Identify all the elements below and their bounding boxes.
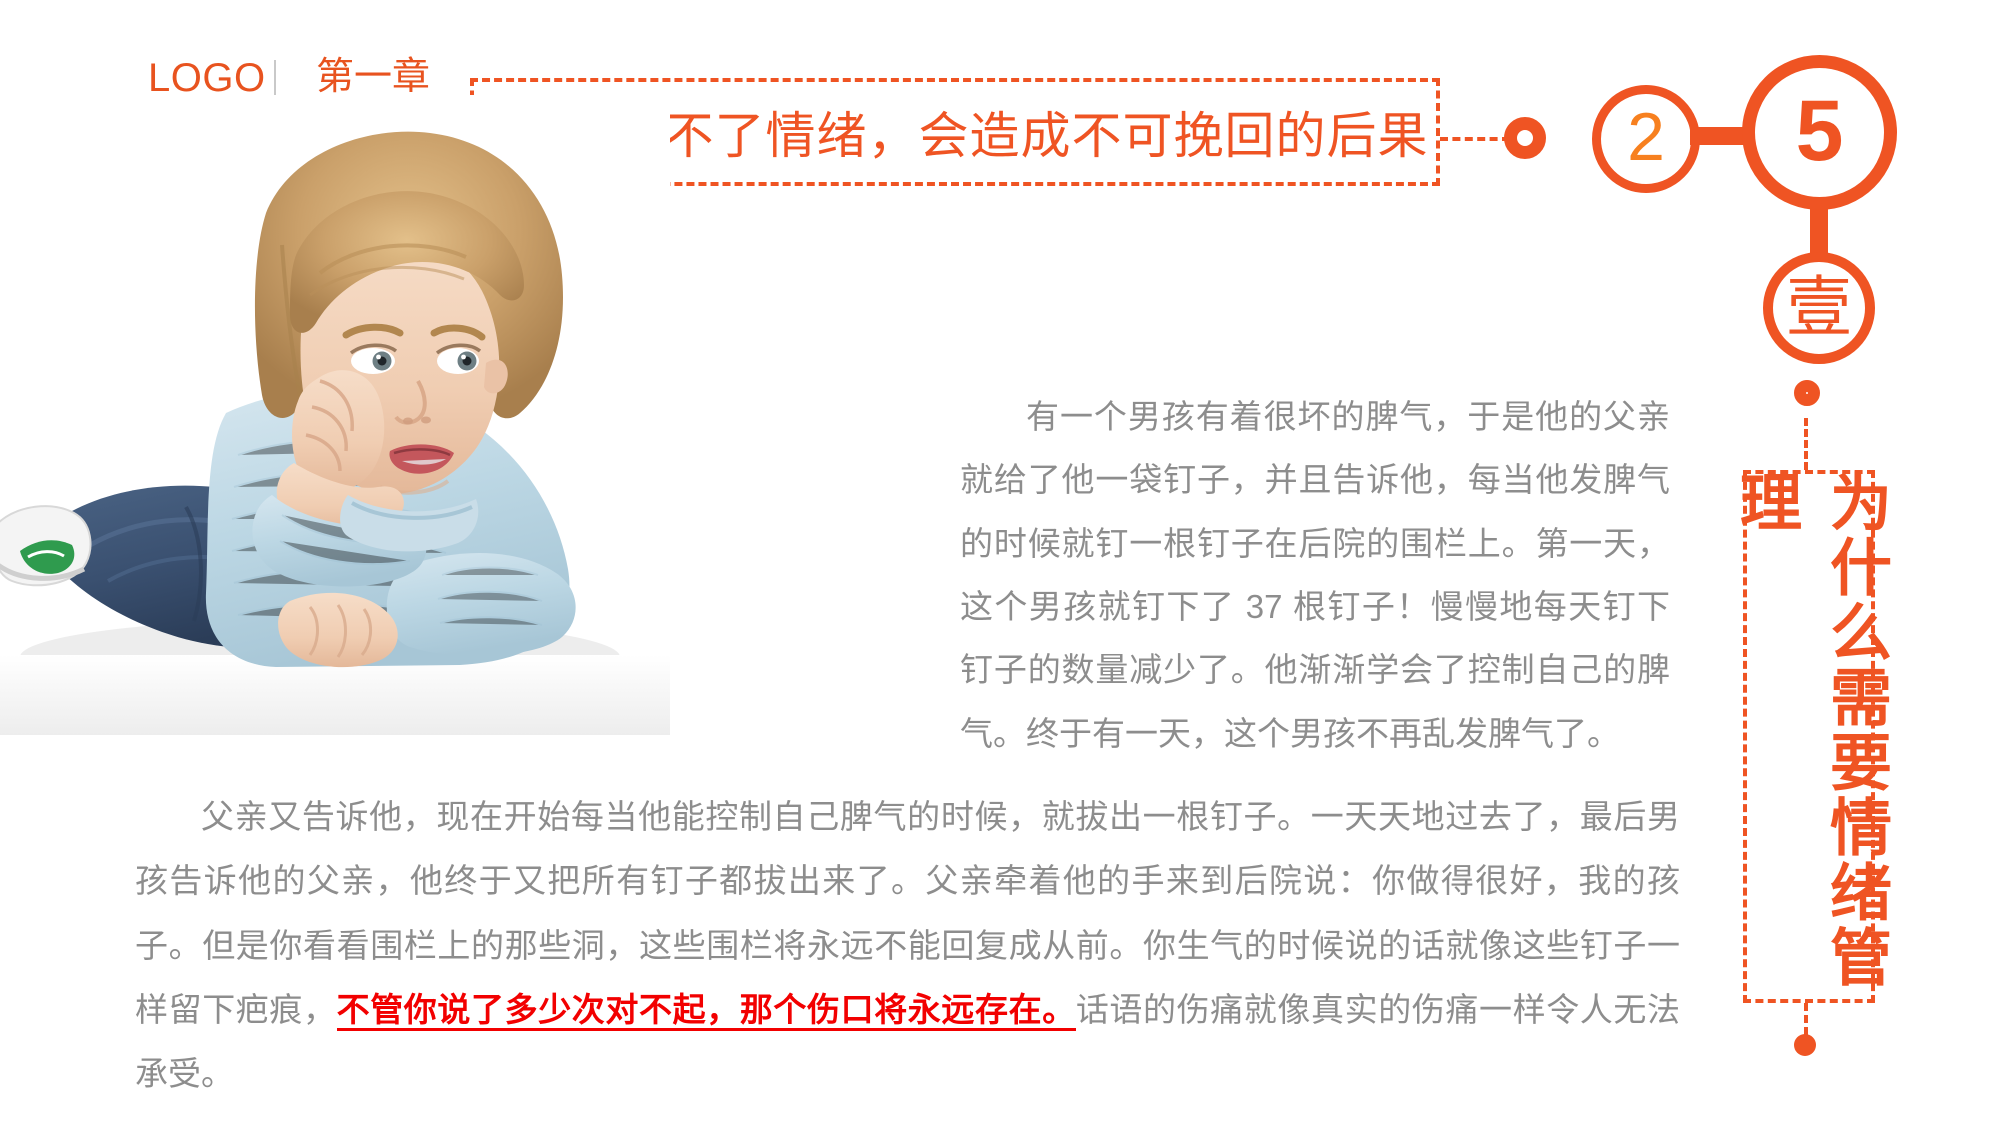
page-title: 控制不了情绪，会造成不可挽回的后果 bbox=[560, 96, 1430, 168]
slide-root: LOGO 第一章 控制不了情绪，会造成不可挽回的后果 2 5 壹 为什么需要情绪… bbox=[0, 0, 2000, 1125]
story-paragraph-2: 父亲又告诉他，现在开始每当他能控制自己脾气的时候，就拔出一根钉子。一天天地过去了… bbox=[135, 785, 1680, 1107]
badge-number-primary: 5 bbox=[1742, 55, 1897, 210]
sidebar-bottom-stem bbox=[1804, 1003, 1808, 1035]
sidebar-top-stem bbox=[1804, 418, 1808, 470]
title-connector-dashes bbox=[1440, 137, 1510, 141]
sidebar-vertical-label: 为什么需要情绪管理 bbox=[1743, 470, 1875, 1003]
sidebar-top-ring-dot-icon bbox=[1794, 380, 1820, 406]
story-paragraph-1: 有一个男孩有着很坏的脾气，于是他的父亲就给了他一袋钉子，并且告诉他，每当他发脾气… bbox=[960, 385, 1670, 765]
badge-number-secondary: 2 bbox=[1592, 85, 1700, 193]
ring-dot-icon bbox=[1504, 117, 1546, 159]
badge-chinese-numeral-label: 壹 bbox=[1786, 274, 1852, 340]
story-highlight: 不管你说了多少次对不起，那个伤口将永远存在。 bbox=[337, 991, 1076, 1031]
sidebar-bottom-dot-icon bbox=[1794, 1034, 1816, 1056]
badge-chinese-numeral: 壹 bbox=[1763, 252, 1875, 364]
child-photo bbox=[0, 95, 670, 735]
chapter-label: 第一章 bbox=[316, 58, 430, 96]
badge-number-primary-label: 5 bbox=[1796, 88, 1844, 174]
badge-number-secondary-label: 2 bbox=[1627, 103, 1665, 171]
logo-text: LOGO bbox=[148, 58, 266, 98]
